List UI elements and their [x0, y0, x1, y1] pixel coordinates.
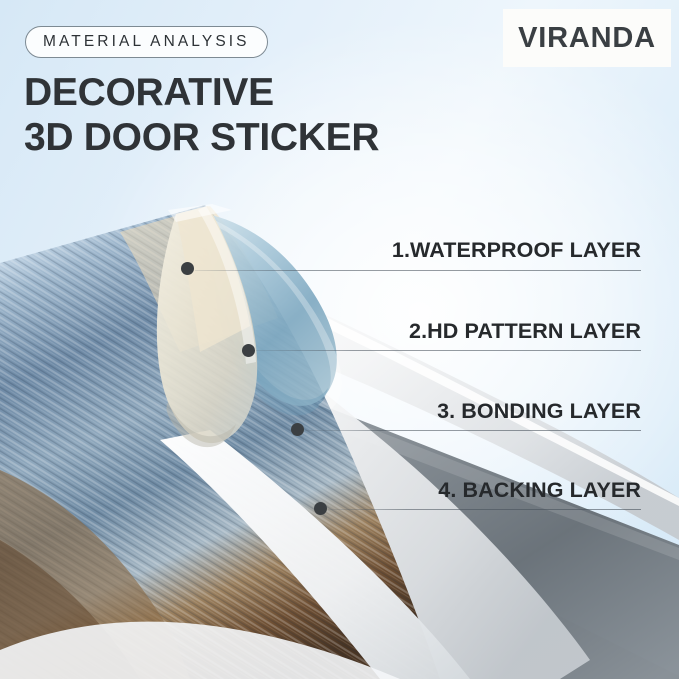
callout-dot-3 — [291, 423, 304, 436]
eyebrow-label: MATERIAL ANALYSIS — [43, 33, 250, 51]
eyebrow-badge: MATERIAL ANALYSIS — [25, 26, 268, 58]
callout-rule-4 — [328, 509, 641, 510]
callout-label-2: 2.HD PATTERN LAYER — [409, 321, 641, 343]
title-line-2: 3D DOOR STICKER — [24, 115, 379, 160]
callout-rule-3 — [305, 430, 641, 431]
callout-rule-1 — [195, 270, 641, 271]
poster-canvas: MATERIAL ANALYSIS DECORATIVE 3D DOOR STI… — [0, 0, 679, 679]
callout-dot-2 — [242, 344, 255, 357]
brand-logo: VIRANDA — [503, 9, 671, 67]
callout-dot-1 — [181, 262, 194, 275]
callout-label-3: 3. BONDING LAYER — [437, 401, 641, 423]
callout-rule-2 — [256, 350, 641, 351]
callout-label-1: 1.WATERPROOF LAYER — [392, 240, 641, 262]
page-title: DECORATIVE 3D DOOR STICKER — [24, 70, 379, 160]
brand-name: VIRANDA — [518, 22, 656, 55]
title-line-1: DECORATIVE — [24, 71, 274, 114]
callout-dot-4 — [314, 502, 327, 515]
callout-label-4: 4. BACKING LAYER — [438, 480, 641, 502]
